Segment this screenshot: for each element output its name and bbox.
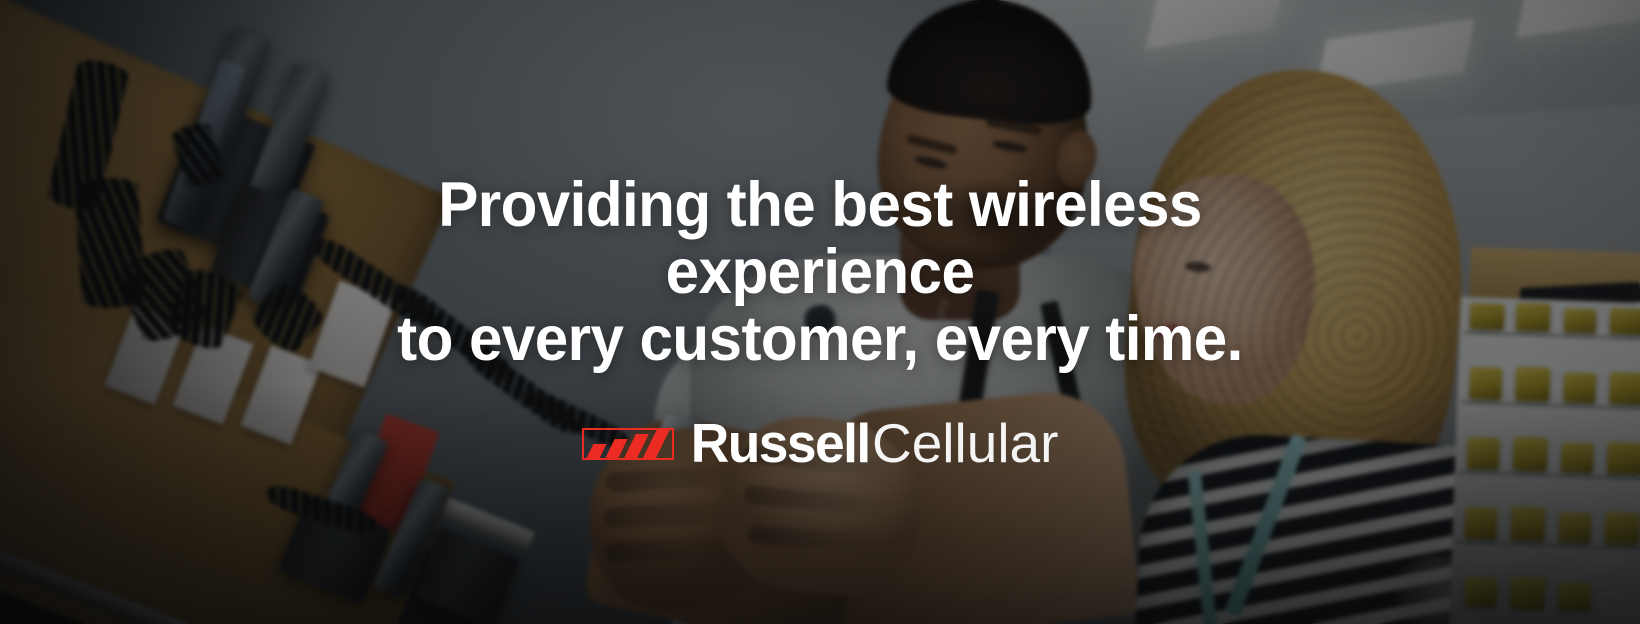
speed-bar	[586, 444, 606, 458]
brand-name-primary: Russell	[690, 416, 869, 471]
hero-headline: Providing the best wireless experience t…	[314, 172, 1326, 372]
hero-content: Providing the best wireless experience t…	[0, 0, 1640, 624]
brand-logo[interactable]: Russell Cellular	[582, 416, 1059, 471]
headline-line-1: Providing the best wireless experience	[314, 172, 1326, 306]
speed-bar	[605, 439, 627, 458]
brand-wordmark: Russell Cellular	[688, 416, 1059, 471]
hero-banner: Russell Cellular	[0, 0, 1640, 624]
brand-name-secondary: Cellular	[872, 416, 1058, 471]
speed-bars-icon	[582, 428, 674, 460]
headline-line-2: to every customer, every time.	[314, 306, 1326, 373]
